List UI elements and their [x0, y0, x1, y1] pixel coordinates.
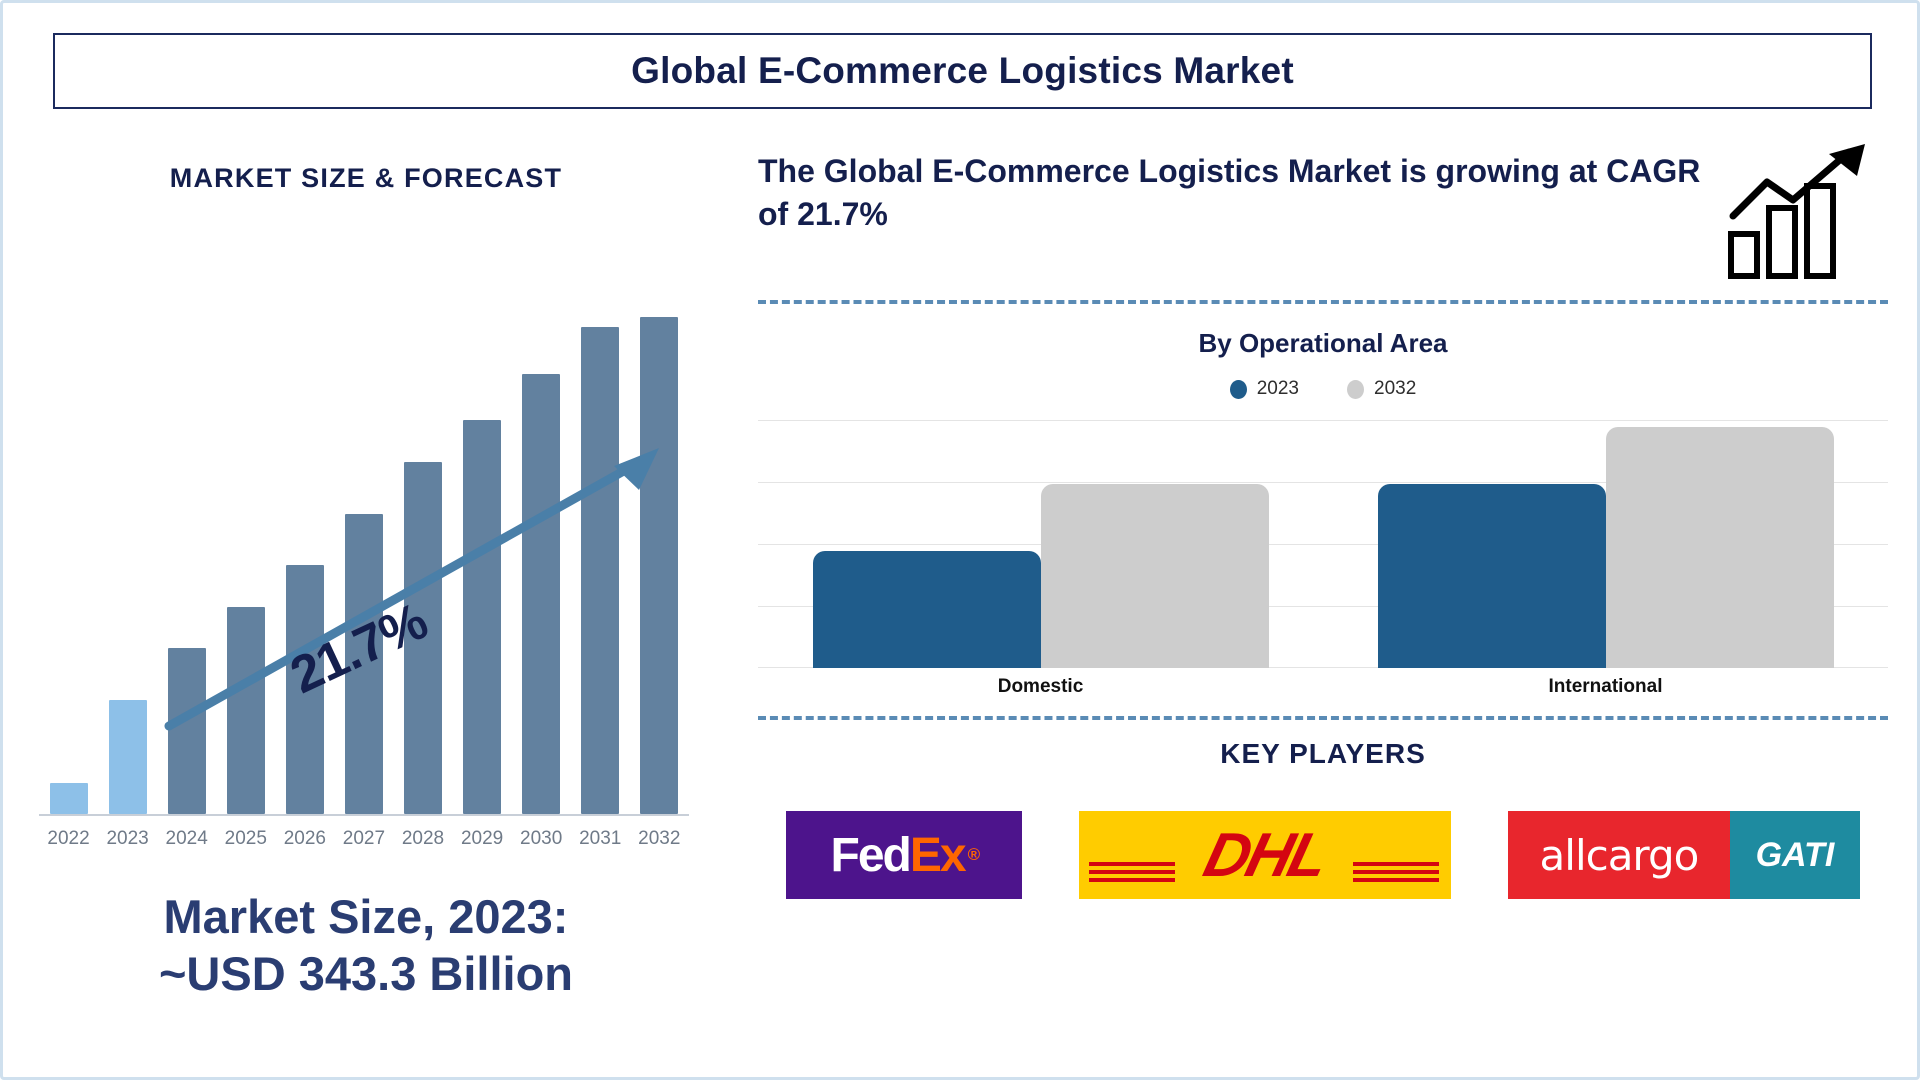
bar-slot — [571, 296, 630, 814]
dhl-stripes-right-icon — [1353, 861, 1439, 883]
dhl-stripes-left-icon — [1089, 861, 1175, 883]
bar-2025 — [227, 607, 265, 814]
bar-2023 — [109, 700, 147, 814]
bar-domestic-2023 — [813, 551, 1041, 668]
separator-bottom — [758, 716, 1888, 720]
x-tick-label: 2028 — [393, 828, 452, 850]
callout-line-2: ~USD 343.3 Billion — [21, 945, 711, 1002]
market-size-heading: MARKET SIZE & FORECAST — [21, 163, 711, 194]
infographic-page: Global E-Commerce Logistics Market MARKE… — [0, 0, 1920, 1080]
x-tick-label: 2032 — [630, 828, 689, 850]
bar-international-2023 — [1378, 484, 1606, 668]
headline-row: The Global E-Commerce Logistics Market i… — [758, 150, 1888, 285]
bar-slot — [393, 296, 452, 814]
legend-item-2023: 2023 — [1230, 378, 1299, 400]
fedex-ex-text: Ex — [910, 828, 965, 883]
bar-2029 — [463, 420, 501, 814]
market-size-forecast-chart: 2022 2023 2024 2025 2026 2027 2028 2029 … — [39, 268, 689, 868]
title-banner: Global E-Commerce Logistics Market — [53, 33, 1872, 109]
bar-2030 — [522, 374, 560, 814]
operational-area-chart — [758, 420, 1888, 668]
fedex-fed-text: Fed — [831, 828, 910, 883]
x-label-international: International — [1323, 676, 1888, 704]
x-tick-label: 2027 — [334, 828, 393, 850]
operational-area-bars — [758, 420, 1888, 668]
bar-slot — [453, 296, 512, 814]
logo-allcargo-gati: allcargo GATI — [1508, 811, 1860, 899]
legend-item-2032: 2032 — [1347, 378, 1416, 400]
legend-label-2032: 2032 — [1374, 378, 1416, 400]
gati-wordmark: GATI — [1730, 811, 1859, 899]
bar-2032 — [640, 317, 678, 814]
x-tick-label: 2026 — [275, 828, 334, 850]
bar-international-2032 — [1606, 427, 1834, 668]
key-players-logos: FedEx® DHL — [758, 800, 1888, 910]
growth-arrow-bars-icon — [1719, 142, 1879, 282]
operational-area-legend: 2023 2032 — [758, 378, 1888, 400]
forecast-x-axis: 2022 2023 2024 2025 2026 2027 2028 2029 … — [39, 822, 689, 856]
x-tick-label: 2022 — [39, 828, 98, 850]
bar-2031 — [581, 327, 619, 814]
forecast-bars — [39, 296, 689, 816]
bar-2024 — [168, 648, 206, 814]
section-title-key-players: KEY PLAYERS — [758, 738, 1888, 770]
x-tick-label: 2023 — [98, 828, 157, 850]
bar-domestic-2032 — [1041, 484, 1269, 668]
market-size-panel: MARKET SIZE & FORECAST 2022 2023 2024 20 — [21, 128, 711, 1058]
x-tick-label: 2024 — [157, 828, 216, 850]
bar-group-international — [1323, 420, 1888, 668]
legend-label-2023: 2023 — [1257, 378, 1299, 400]
market-size-callout: Market Size, 2023: ~USD 343.3 Billion — [21, 888, 711, 1003]
bar-slot — [334, 296, 393, 814]
bar-slot — [216, 296, 275, 814]
bar-slot — [39, 296, 98, 814]
callout-line-1: Market Size, 2023: — [21, 888, 711, 945]
section-title-operational-area: By Operational Area — [758, 328, 1888, 359]
separator-top — [758, 300, 1888, 304]
bar-slot — [512, 296, 571, 814]
x-tick-label: 2030 — [512, 828, 571, 850]
bar-group-domestic — [758, 420, 1323, 668]
x-label-domestic: Domestic — [758, 676, 1323, 704]
page-title: Global E-Commerce Logistics Market — [631, 50, 1294, 92]
cagr-headline: The Global E-Commerce Logistics Market i… — [758, 150, 1713, 236]
x-tick-label: 2029 — [453, 828, 512, 850]
operational-area-x-axis: Domestic International — [758, 676, 1888, 704]
bar-slot — [630, 296, 689, 814]
bar-slot — [275, 296, 334, 814]
bar-2022 — [50, 783, 88, 814]
legend-dot-2032-icon — [1347, 380, 1364, 399]
right-content-panel: The Global E-Commerce Logistics Market i… — [738, 128, 1898, 1058]
bar-slot — [98, 296, 157, 814]
allcargo-wordmark: allcargo — [1508, 811, 1731, 899]
dhl-wordmark: DHL — [1197, 820, 1333, 891]
x-tick-label: 2031 — [571, 828, 630, 850]
fedex-registered-mark: ® — [968, 845, 979, 865]
bar-slot — [157, 296, 216, 814]
logo-fedex: FedEx® — [786, 811, 1022, 899]
logo-dhl: DHL — [1079, 811, 1451, 899]
legend-dot-2023-icon — [1230, 380, 1247, 399]
x-tick-label: 2025 — [216, 828, 275, 850]
